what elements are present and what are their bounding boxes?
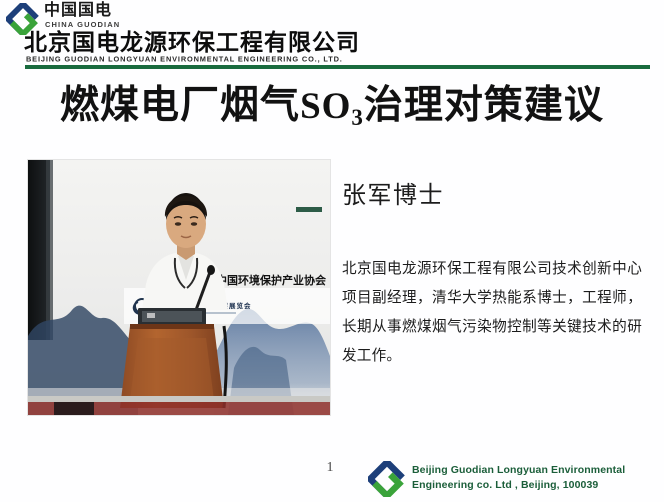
footer-line-2: Engineering co. Ltd , Beijing, 100039 [412,478,662,493]
title-chemical-formula: SO3 [300,86,364,127]
speaker-name: 张军博士 [342,180,444,212]
title-chem-main: SO [300,86,351,127]
presentation-slide: 中国国电 CHINA GUODIAN 北京国电龙源环保工程有限公司 BEIJIN… [0,0,664,502]
company-name-en: BEIJING GUODIAN LONGYUAN ENVIRONMENTAL E… [26,54,343,63]
guodian-diamond-logo-icon [368,461,406,497]
footer-company-address: Beijing Guodian Longyuan Environmental E… [412,463,662,492]
svg-text:中国环境保护产业协会: 中国环境保护产业协会 [216,273,327,287]
page-title: 燃煤电厂烟气SO3治理对策建议 [0,80,664,137]
speaker-bio: 北京国电龙源环保工程有限公司技术创新中心项目副经理，清华大学热能系博士，工程师，… [342,255,642,371]
title-part-1: 燃煤电厂烟气 [60,84,300,127]
title-chem-subscript: 3 [351,105,364,130]
header-divider [25,65,650,69]
footer-line-1: Beijing Guodian Longyuan Environmental [412,463,662,478]
slide-header: 中国国电 CHINA GUODIAN 北京国电龙源环保工程有限公司 BEIJIN… [0,0,664,72]
page-number: 1 [318,460,342,476]
brand-name-en: CHINA GUODIAN [45,20,120,29]
speaker-photo-image: 中国环境保护产业协会 第十五届中国国际环保展览会 [28,160,330,415]
brand-name-cn: 中国国电 [44,2,112,20]
speaker-photo: 中国环境保护产业协会 第十五届中国国际环保展览会 [28,160,330,415]
company-name-cn: 北京国电龙源环保工程有限公司 [24,29,360,55]
title-part-2: 治理对策建议 [364,84,604,127]
